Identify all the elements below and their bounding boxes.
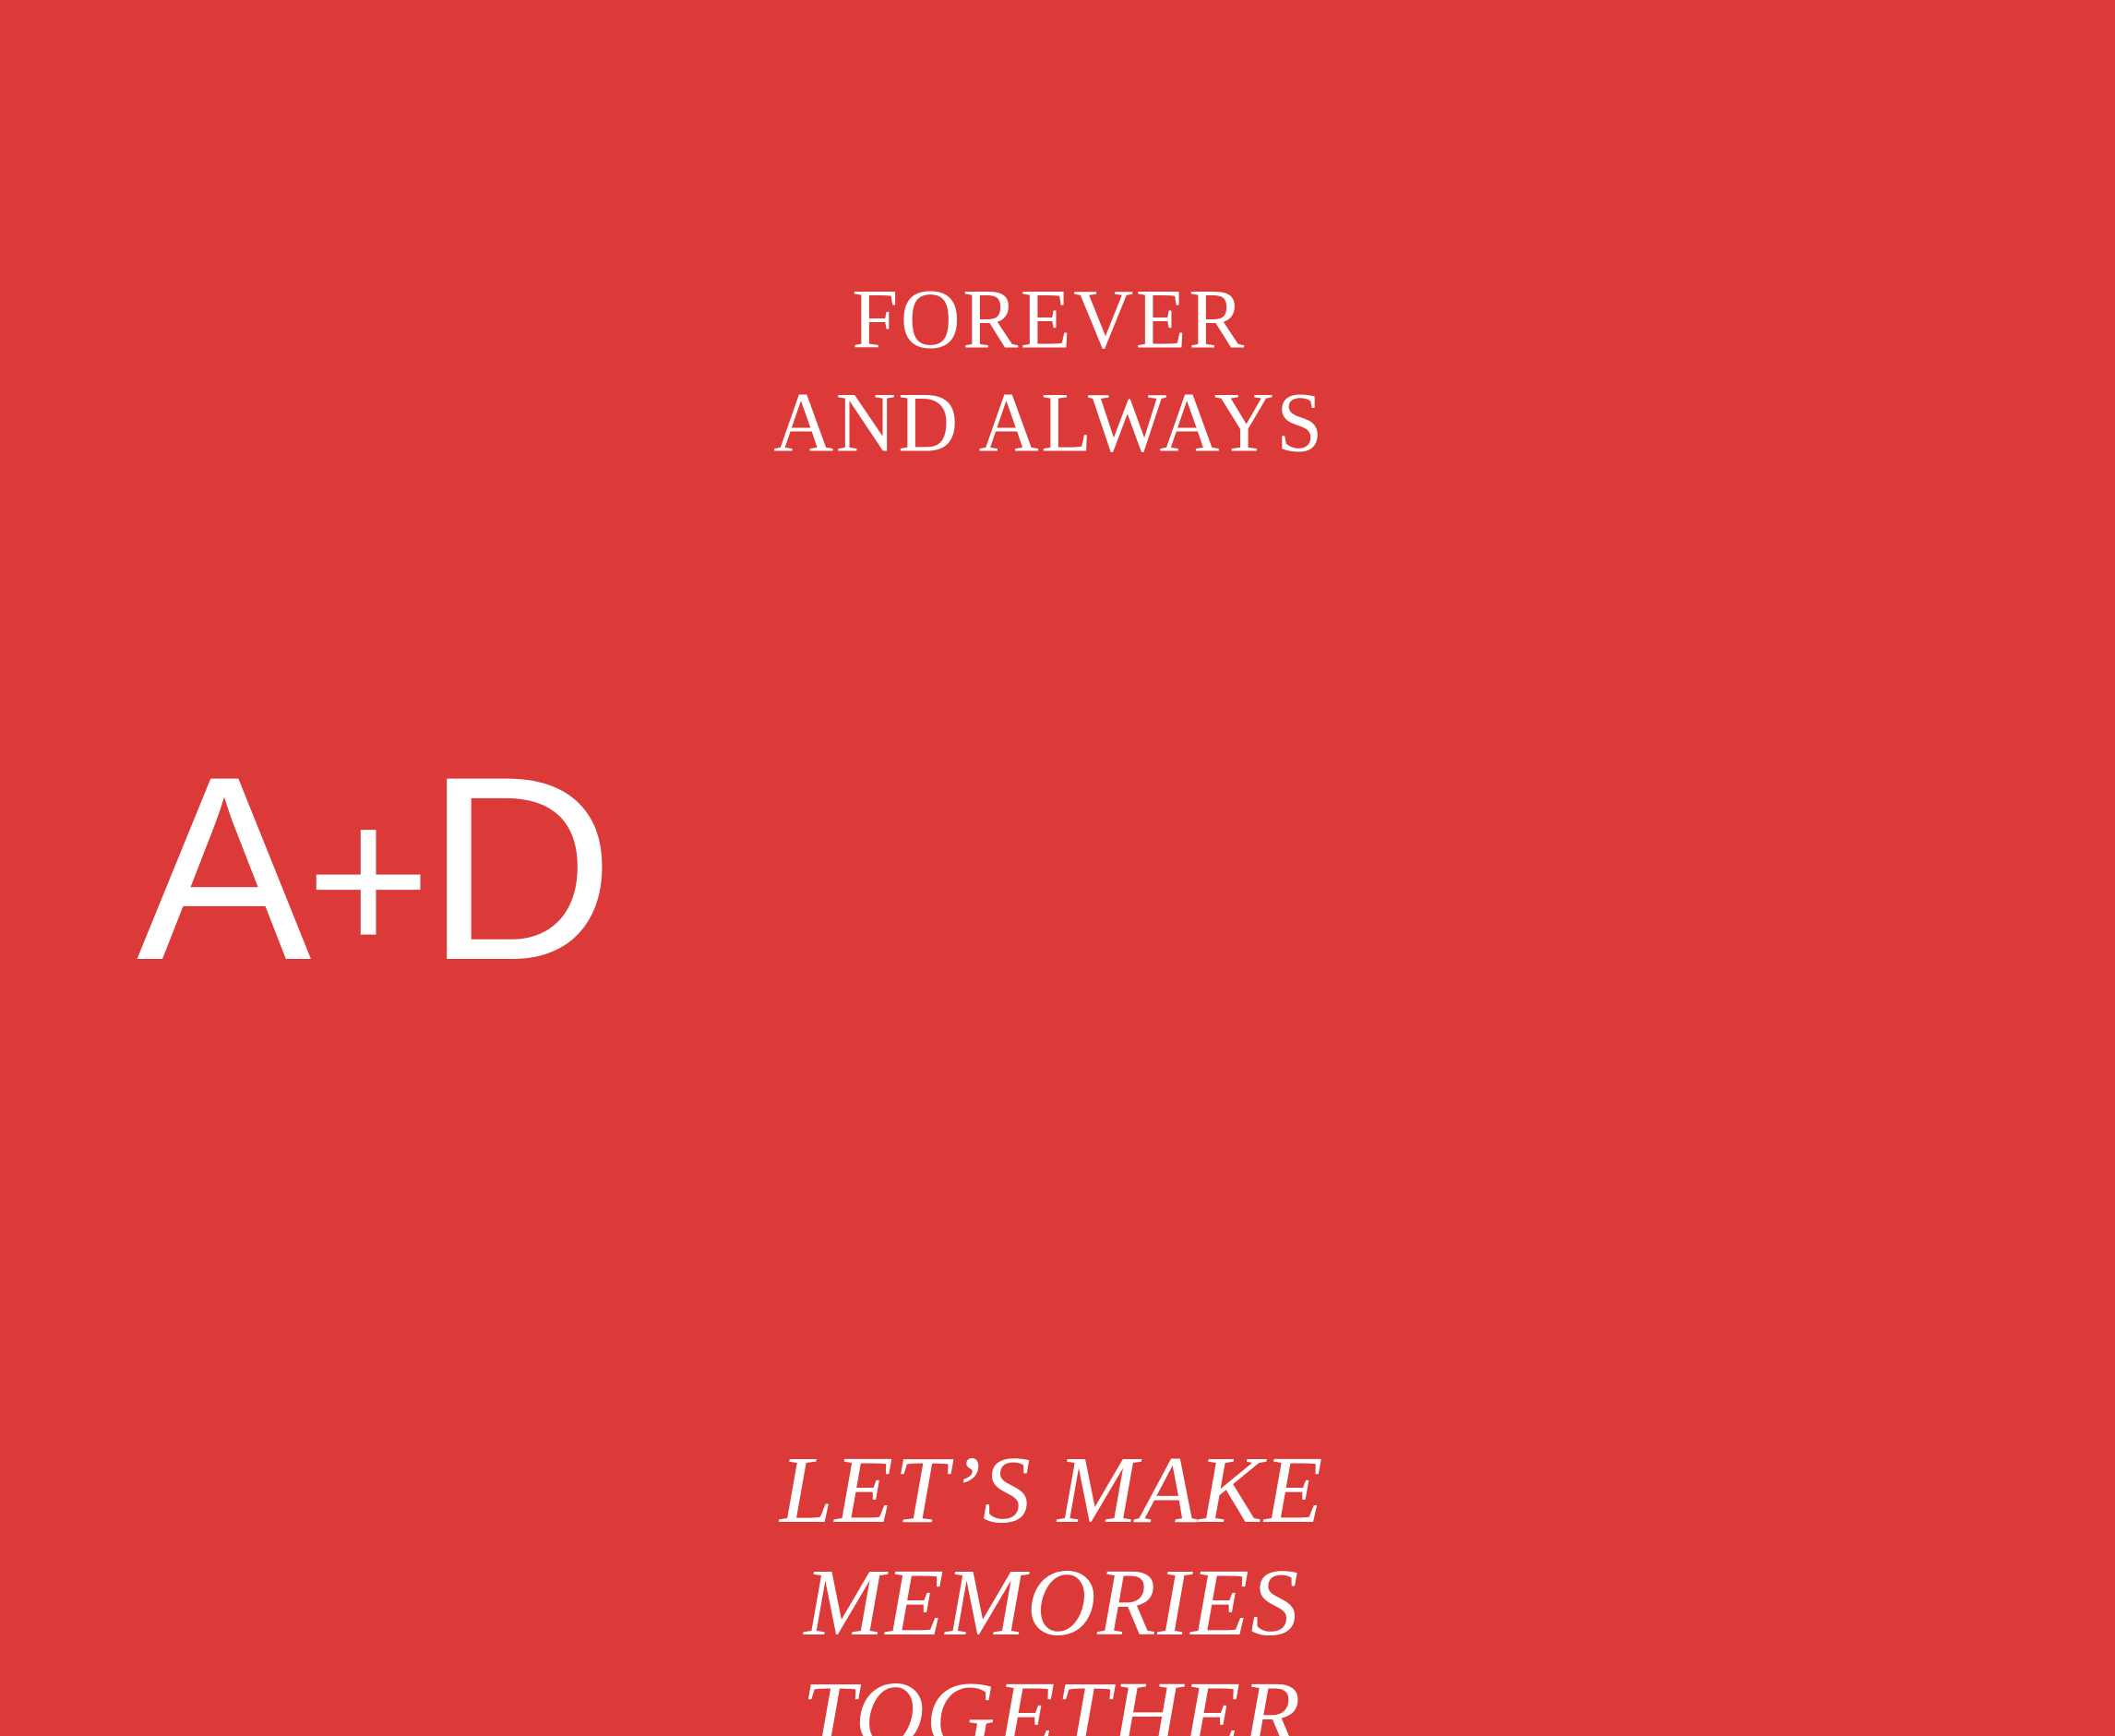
headline-line-2: AND ALWAYS bbox=[0, 371, 2109, 476]
headline-block: FOREVER AND ALWAYS bbox=[0, 268, 2109, 474]
monogram-initial-right: D bbox=[425, 738, 613, 1000]
monogram-initial-left: A bbox=[137, 738, 309, 1000]
headline-line-1: FOREVER bbox=[0, 268, 2109, 373]
tagline-line-2: MEMORIES bbox=[0, 1547, 2109, 1659]
poster-canvas: FOREVER AND ALWAYS A+D LET’S MAKE MEMORI… bbox=[0, 0, 2115, 1736]
monogram: A+D bbox=[137, 738, 613, 1012]
tagline-line-3: TOGETHER bbox=[0, 1659, 2109, 1736]
monogram-plus-icon: + bbox=[305, 749, 430, 1012]
tagline-line-1: LET’S MAKE bbox=[0, 1434, 2109, 1547]
tagline-block: LET’S MAKE MEMORIES TOGETHER bbox=[0, 1434, 2109, 1736]
